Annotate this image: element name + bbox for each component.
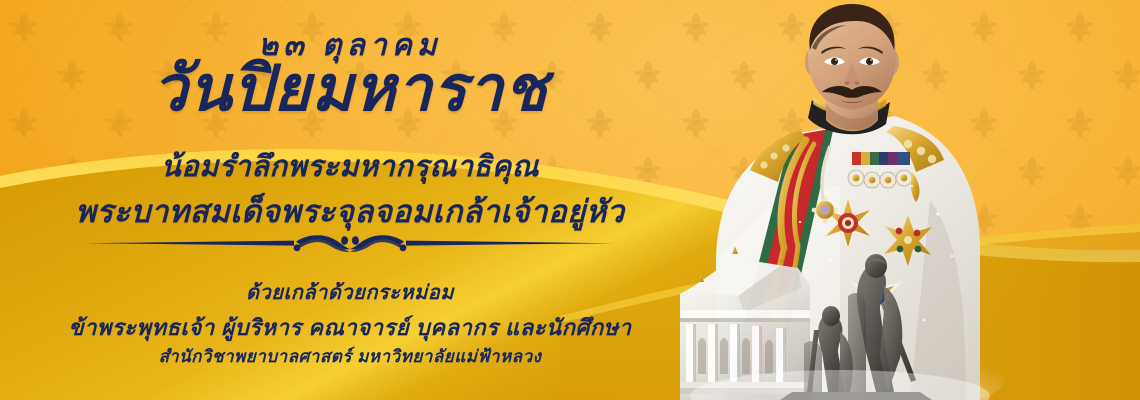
piyamaharaj-day-banner: ๒๓ ตุลาคม วันปิยมหาราช น้อมรำลึกพระมหากร… [0,0,1140,400]
banner-text-block: ๒๓ ตุลาคม วันปิยมหาราช น้อมรำลึกพระมหากร… [0,0,700,400]
footer-line-1: ด้วยเกล้าด้วยกระหม่อม [0,276,700,308]
subtitle-line-1: น้อมรำลึกพระมหากรุณาธิคุณ [0,143,700,189]
footer-line-3: สำนักวิชาพยาบาลศาสตร์ มหาวิทยาลัยแม่ฟ้าห… [0,343,700,370]
page-title: วันปิยมหาราช [0,58,700,121]
footer-line-2: ข้าพระพุทธเจ้า ผู้บริหาร คณาจารย์ บุคลาก… [0,310,700,345]
flourish-divider [80,228,620,258]
